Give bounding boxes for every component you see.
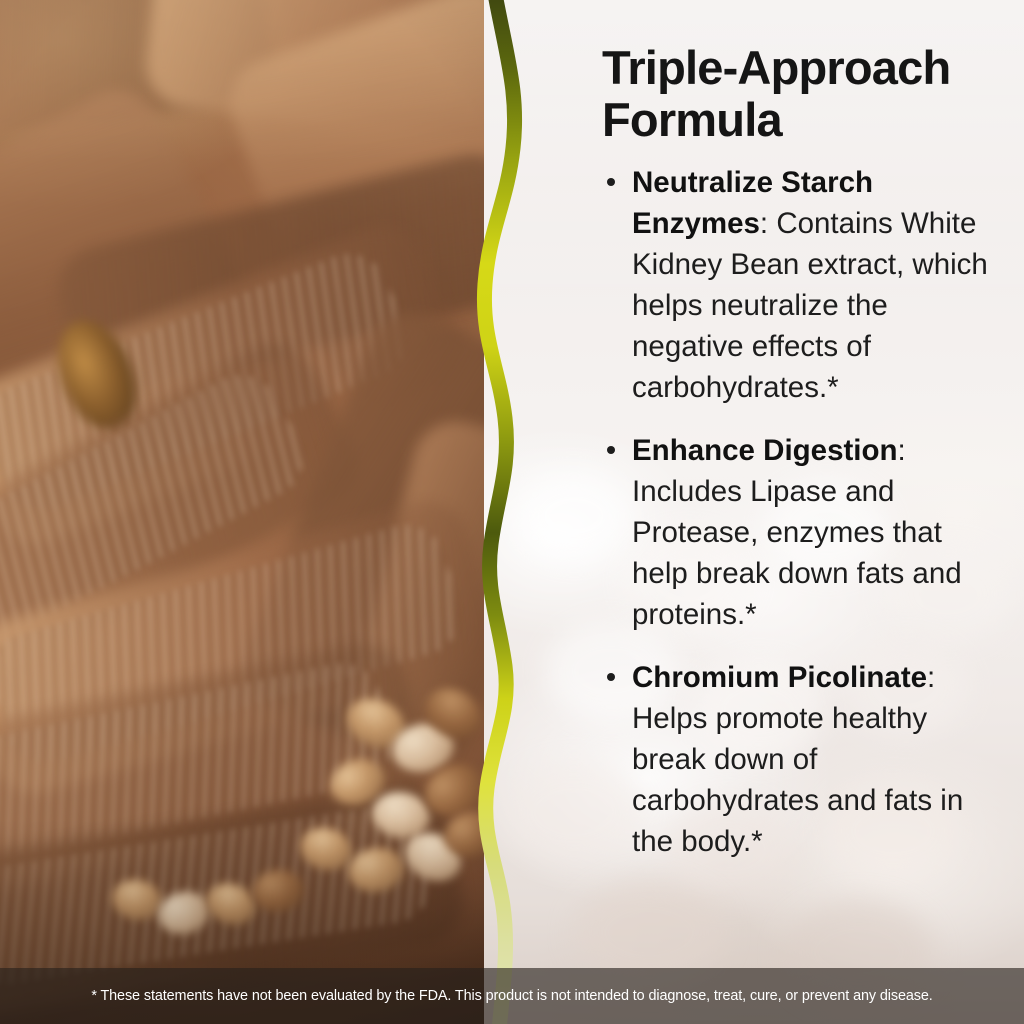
benefit-separator: : [898,434,906,467]
list-item: Neutralize Starch Enzymes: Contains Whit… [602,162,994,408]
benefit-separator: : [927,661,935,694]
pasta-photo [0,0,520,1024]
product-infographic: Triple-Approach Formula Neutralize Starc… [0,0,1024,1024]
benefits-list: Neutralize Starch Enzymes: Contains Whit… [602,162,994,862]
benefit-description: Includes Lipase and Protease, enzymes th… [632,475,962,631]
bullet-dot-icon [607,673,615,681]
benefit-separator: : [760,207,776,240]
page-title: Triple-Approach Formula [602,42,994,146]
list-item: Chromium Picolinate: Helps promote healt… [602,657,994,862]
bullet-dot-icon [607,446,615,454]
benefit-term: Chromium Picolinate [632,661,927,694]
list-item: Enhance Digestion: Includes Lipase and P… [602,430,994,635]
benefit-description: Helps promote healthy break down of carb… [632,702,963,858]
photo-vignette [0,0,520,1024]
disclaimer-bar: * These statements have not been evaluat… [0,968,1024,1024]
text-content: Triple-Approach Formula Neutralize Starc… [602,42,994,862]
fda-disclaimer-text: * These statements have not been evaluat… [91,987,932,1005]
benefit-term: Enhance Digestion [632,434,898,467]
bullet-dot-icon [607,178,615,186]
